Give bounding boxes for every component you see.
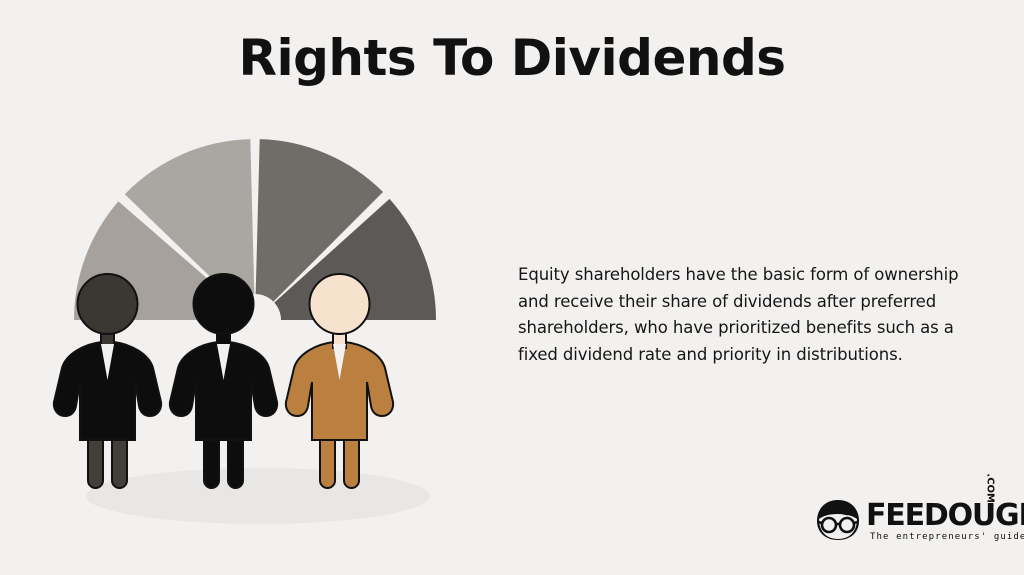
person-middle-head <box>194 274 254 334</box>
umbrella-over-people-illustration <box>40 110 480 530</box>
feedough-face-icon <box>814 499 862 545</box>
person-right-head <box>310 274 370 334</box>
ground-shadow <box>86 468 430 524</box>
person-left-head <box>78 274 138 334</box>
body-paragraph: Equity shareholders have the basic form … <box>518 262 970 369</box>
slide-canvas: Rights To Dividends <box>0 0 1024 575</box>
feedough-wordmark: FEEDOUGH <box>866 501 1024 531</box>
page-title: Rights To Dividends <box>0 28 1024 88</box>
feedough-tagline: The entrepreneurs' guide <box>870 532 1024 542</box>
feedough-logo[interactable]: FEEDOUGH .COM The entrepreneurs' guide <box>814 499 996 553</box>
feedough-domain-suffix: .COM <box>985 473 996 503</box>
